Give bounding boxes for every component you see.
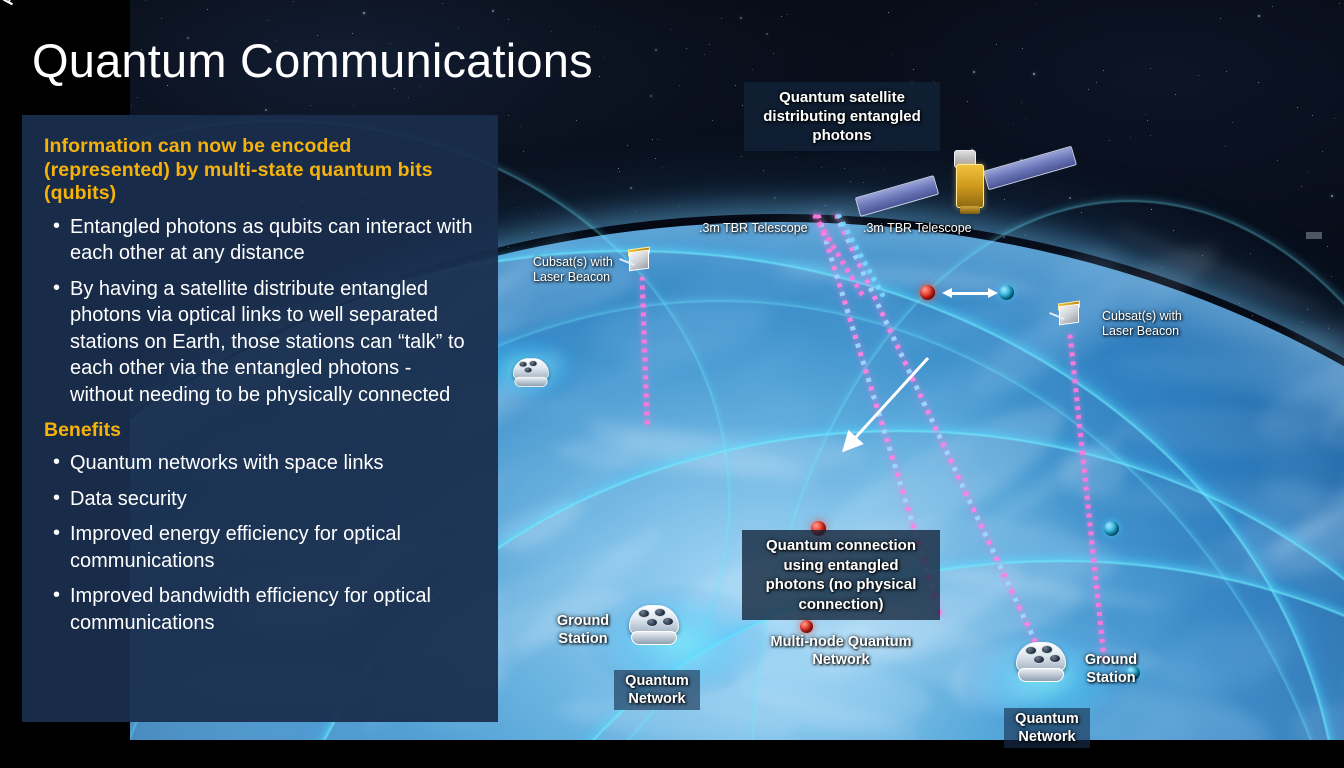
corner-marker bbox=[1306, 232, 1322, 239]
label-cubesat-right: Cubsat(s) with Laser Beacon bbox=[1102, 309, 1194, 339]
label-quantum-network-right: Quantum Network bbox=[1004, 708, 1090, 748]
ground-station-upper-left bbox=[510, 358, 552, 390]
ground-station-left bbox=[625, 605, 683, 649]
entangled-photon-cyan bbox=[999, 285, 1014, 300]
label-ground-station-left: Ground Station bbox=[548, 612, 618, 648]
label-multi-node-network: Multi-node Quantum Network bbox=[748, 633, 934, 669]
label-cubesat-left: Cubsat(s) with Laser Beacon bbox=[533, 255, 619, 285]
panel-benefit-list: Quantum networks with space linksData se… bbox=[22, 450, 498, 636]
label-quantum-network-left: Quantum Network bbox=[614, 670, 700, 710]
satellite-telescope-aperture bbox=[960, 206, 980, 214]
panel-benefit-item: Data security bbox=[70, 486, 480, 513]
panel-bullet-item: Entangled photons as qubits can interact… bbox=[70, 214, 480, 267]
cubesat-left bbox=[625, 248, 653, 274]
content-panel: Information can now be encoded (represen… bbox=[22, 115, 498, 722]
panel-benefit-item: Improved energy efficiency for optical c… bbox=[70, 521, 480, 574]
panel-benefit-item: Improved bandwidth efficiency for optica… bbox=[70, 583, 480, 636]
photons-direction-arrow bbox=[830, 352, 940, 462]
panel-bullet-list: Entangled photons as qubits can interact… bbox=[22, 214, 498, 409]
satellite-body bbox=[956, 164, 984, 208]
page-title: Quantum Communications bbox=[32, 32, 593, 90]
entangled-photon-red bbox=[920, 285, 935, 300]
photon-node-cyan bbox=[1104, 521, 1119, 536]
cubesat-right bbox=[1055, 302, 1083, 328]
slide-canvas: Quantum satellite distributing entangled… bbox=[0, 0, 1344, 768]
panel-bullet-item: By having a satellite distribute entangl… bbox=[70, 276, 480, 409]
label-ground-station-right: Ground Station bbox=[1076, 651, 1146, 687]
label-quantum-connection: Quantum connection using entangled photo… bbox=[742, 530, 940, 620]
photon-node-red bbox=[800, 620, 813, 633]
ground-station-right bbox=[1012, 642, 1070, 686]
label-telescope-left: .3m TBR Telescope bbox=[699, 221, 808, 236]
label-quantum-satellite: Quantum satellite distributing entangled… bbox=[744, 82, 940, 151]
quantum-satellite bbox=[930, 142, 1014, 226]
entanglement-arrow bbox=[942, 288, 998, 298]
panel-benefit-item: Quantum networks with space links bbox=[70, 450, 480, 477]
panel-lead-text: Information can now be encoded (represen… bbox=[22, 115, 498, 206]
label-telescope-right: .3m TBR Telescope bbox=[863, 221, 972, 236]
panel-sub-heading: Benefits bbox=[22, 417, 498, 442]
